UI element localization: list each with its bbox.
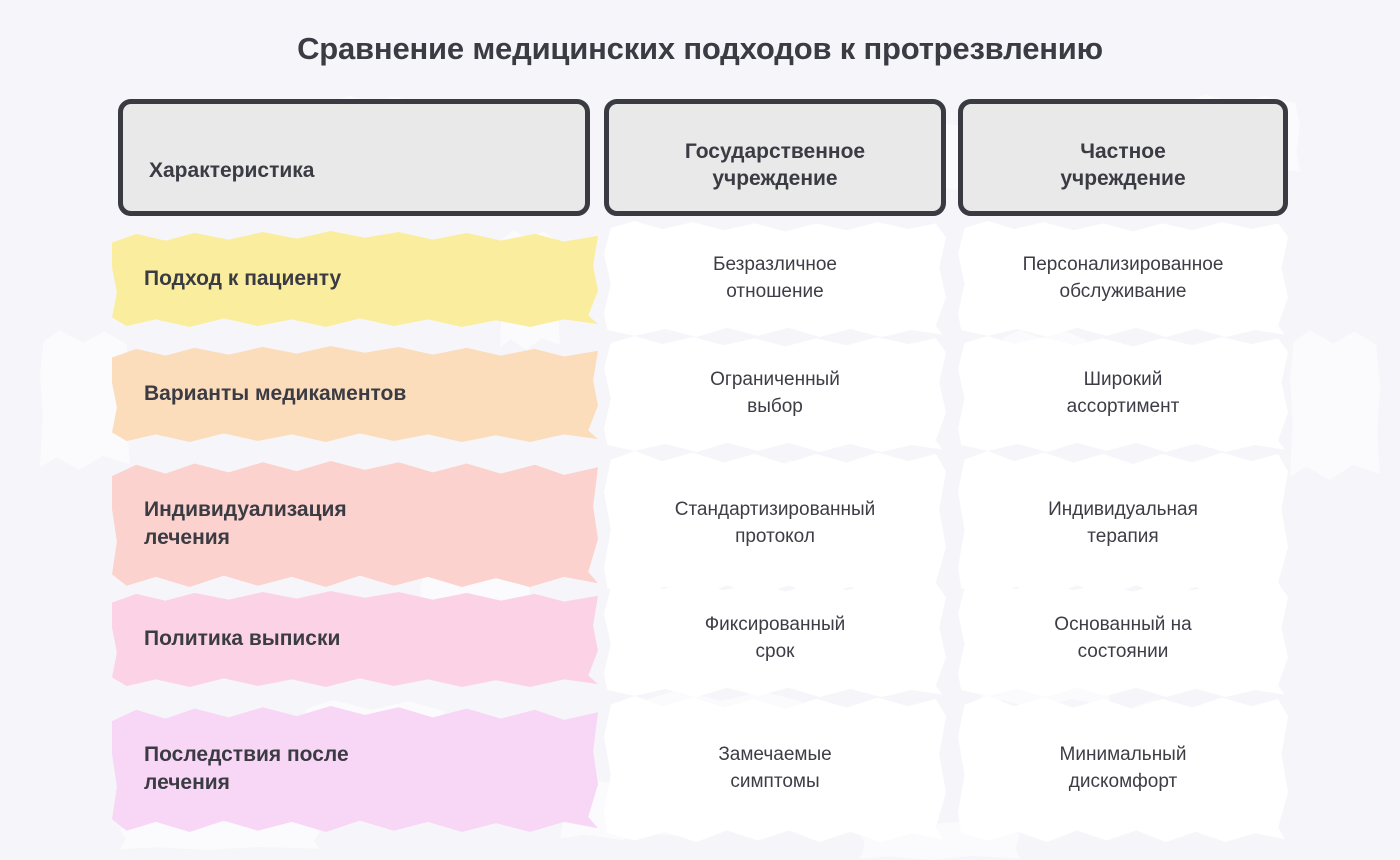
row-label-1: Подход к пациенту [112, 231, 598, 327]
cell-text: Замечаемые симптомы [706, 742, 843, 796]
table-cell-r5-c3: Минимальный дискомфорт [958, 696, 1288, 842]
cell-text: Стандартизированный протокол [663, 497, 888, 551]
cell-text: Основанный на состоянии [1042, 612, 1203, 666]
cell-text: Широкий ассортимент [1055, 367, 1192, 421]
row-label-5: Последствия после лечения [112, 706, 598, 832]
cell-text: Фиксированный срок [693, 612, 858, 666]
header-label: Характеристика [149, 158, 314, 185]
row-label-3: Индивидуализация лечения [112, 461, 598, 587]
row-label-text: Политика выписки [112, 625, 356, 653]
cell-text: Ограниченный выбор [698, 367, 852, 421]
table-cell-r2-c2: Ограниченный выбор [604, 336, 946, 452]
cell-text: Персонализированное обслуживание [1011, 252, 1236, 306]
table-header-private-institution: Частное учреждение [958, 99, 1288, 216]
row-label-4: Политика выписки [112, 591, 598, 687]
table-header-public-institution: Государственное учреждение [604, 99, 946, 216]
header-label: Государственное учреждение [685, 139, 865, 193]
table-cell-r3-c3: Индивидуальная терапия [958, 451, 1288, 597]
header-label: Частное учреждение [1060, 139, 1185, 193]
row-label-text: Варианты медикаментов [112, 380, 422, 408]
table-cell-r4-c2: Фиксированный срок [604, 581, 946, 697]
cell-text: Безразличное отношение [701, 252, 849, 306]
row-label-text: Подход к пациенту [112, 265, 357, 293]
comparison-table: Характеристика Государственное учреждени… [0, 0, 1400, 846]
table-cell-r4-c3: Основанный на состоянии [958, 581, 1288, 697]
table-cell-r3-c2: Стандартизированный протокол [604, 451, 946, 597]
page-title: Сравнение медицинских подходов к протрез… [0, 31, 1400, 67]
table-cell-r2-c3: Широкий ассортимент [958, 336, 1288, 452]
table-cell-r5-c2: Замечаемые симптомы [604, 696, 946, 842]
table-cell-r1-c2: Безразличное отношение [604, 221, 946, 337]
cell-text: Минимальный дискомфорт [1048, 742, 1199, 796]
row-label-text: Индивидуализация лечения [112, 496, 363, 551]
table-header-characteristic: Характеристика [118, 99, 590, 216]
row-label-2: Варианты медикаментов [112, 346, 598, 442]
cell-text: Индивидуальная терапия [1036, 497, 1210, 551]
row-label-text: Последствия после лечения [112, 741, 365, 796]
table-cell-r1-c3: Персонализированное обслуживание [958, 221, 1288, 337]
